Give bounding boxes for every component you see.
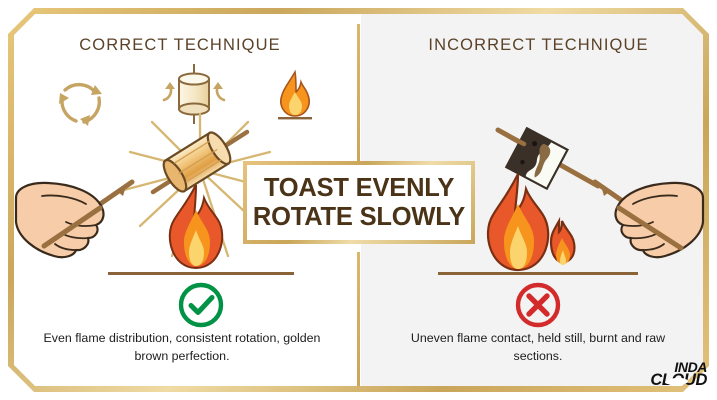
logo-line-2: CLOUD bbox=[650, 373, 707, 388]
cross-circle-icon bbox=[514, 281, 562, 329]
correct-caption: Even flame distribution, consistent rota… bbox=[42, 330, 322, 365]
rotation-arrows-icon bbox=[50, 74, 112, 136]
center-banner: TOAST EVENLY ROTATE SLOWLY bbox=[243, 161, 475, 244]
right-ground-line bbox=[438, 272, 638, 275]
large-flame-icon bbox=[466, 172, 584, 276]
incorrect-panel-header: INCORRECT TECHNIQUE bbox=[360, 36, 717, 55]
brand-logo: INDA CLOUD bbox=[650, 361, 707, 388]
center-divider-bottom bbox=[357, 252, 360, 386]
center-banner-inner: TOAST EVENLY ROTATE SLOWLY bbox=[247, 165, 471, 240]
left-hand-holding-stick bbox=[14, 178, 142, 264]
banner-line-2: ROTATE SLOWLY bbox=[253, 203, 465, 232]
correct-panel-header: CORRECT TECHNIQUE bbox=[0, 36, 360, 55]
left-ground-line bbox=[108, 272, 294, 275]
check-circle-icon bbox=[177, 281, 225, 329]
incorrect-caption: Uneven flame contact, held still, burnt … bbox=[398, 330, 678, 365]
infographic-poster: CORRECT TECHNIQUE INCORRECT TECHNIQUE bbox=[0, 0, 717, 400]
medium-flame-icon bbox=[146, 182, 246, 276]
right-hand-holding-stick bbox=[585, 178, 705, 264]
banner-line-1: TOAST EVENLY bbox=[264, 174, 454, 203]
